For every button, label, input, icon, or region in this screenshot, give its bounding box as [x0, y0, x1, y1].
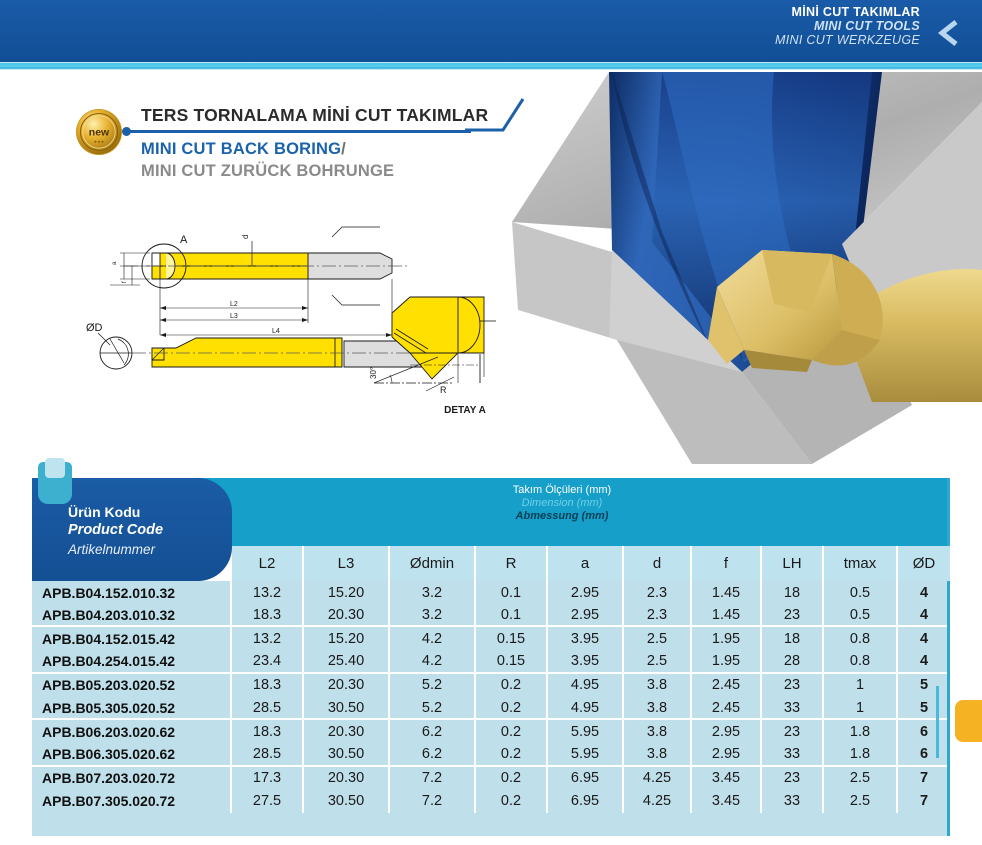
cell-d: 2.5 — [624, 651, 692, 672]
cell-r: 0.2 — [476, 720, 548, 743]
cell-product-code: APB.B07.305.020.72 — [32, 790, 232, 813]
cell-f: 2.45 — [692, 697, 762, 718]
cell-l3: 15.20 — [304, 581, 390, 604]
cell-tmax: 2.5 — [824, 767, 898, 790]
detail-marker-label: A — [180, 234, 188, 246]
cell--d: 5 — [898, 674, 950, 697]
column-header-tmax: tmax — [824, 546, 898, 581]
column-header-l2: L2 — [232, 546, 304, 581]
product-code-header-tr: Ürün Kodu — [68, 504, 140, 520]
cell-product-code: APB.B04.152.010.32 — [32, 581, 232, 604]
cell-l3: 20.30 — [304, 767, 390, 790]
cell-d: 4.25 — [624, 790, 692, 813]
cell-lh: 23 — [762, 720, 824, 743]
cell-l2: 17.3 — [232, 767, 304, 790]
title-rule — [126, 130, 471, 133]
cell-tmax: 0.5 — [824, 604, 898, 625]
product-code-header-de: Artikelnummer — [68, 542, 155, 557]
cell-l2: 28.5 — [232, 743, 304, 764]
dimension-header-tr: Takım Ölçüleri (mm) — [412, 484, 712, 497]
cell--dmin: 3.2 — [390, 581, 476, 604]
cell-f: 3.45 — [692, 767, 762, 790]
cell-tmax: 1.8 — [824, 743, 898, 764]
cell-l3: 30.50 — [304, 697, 390, 718]
cell--d: 5 — [898, 697, 950, 718]
angle-label: 30° — [369, 367, 378, 379]
table-body: APB.B04.152.010.3213.215.203.20.12.952.3… — [32, 581, 950, 836]
cell--d: 4 — [898, 581, 950, 604]
table-row: APB.B07.203.020.7217.320.307.20.26.954.2… — [32, 767, 950, 790]
cell-l2: 18.3 — [232, 674, 304, 697]
table-row: APB.B05.203.020.5218.320.305.20.24.953.8… — [32, 674, 950, 697]
table-row: APB.B07.305.020.7227.530.507.20.26.954.2… — [32, 790, 950, 813]
radius-label: R — [440, 385, 447, 395]
dimension-header-de: Abmessung (mm) — [412, 510, 712, 523]
cell-f: 1.45 — [692, 604, 762, 625]
cell-lh: 23 — [762, 674, 824, 697]
cell-l2: 28.5 — [232, 697, 304, 718]
cell-r: 0.2 — [476, 790, 548, 813]
cell-l2: 23.4 — [232, 651, 304, 672]
cell-a: 6.95 — [548, 790, 624, 813]
page-title-de: MINI CUT ZURÜCK BOHRUNGE — [141, 162, 394, 181]
cell-d: 2.3 — [624, 581, 692, 604]
cell-lh: 18 — [762, 581, 824, 604]
back-boring-tool-3d-render — [512, 72, 982, 464]
cell-f: 1.95 — [692, 627, 762, 650]
cell-tmax: 0.8 — [824, 651, 898, 672]
cell--dmin: 4.2 — [390, 627, 476, 650]
cell-f: 1.45 — [692, 581, 762, 604]
cell-product-code: APB.B05.305.020.52 — [32, 697, 232, 718]
cell-r: 0.15 — [476, 651, 548, 672]
cell-product-code: APB.B04.254.015.42 — [32, 651, 232, 672]
product-code-header-en: Product Code — [68, 522, 163, 538]
cell-r: 0.2 — [476, 743, 548, 764]
cell-tmax: 0.8 — [824, 627, 898, 650]
cell-l3: 30.50 — [304, 790, 390, 813]
cell--dmin: 6.2 — [390, 720, 476, 743]
diameter-label: ØD — [86, 322, 103, 334]
header-title-de: MINI CUT WERKZEUGE — [775, 33, 920, 47]
chevron-left-icon — [936, 20, 960, 46]
cell--dmin: 7.2 — [390, 790, 476, 813]
page-title-en-text: MINI CUT BACK BORING — [141, 140, 341, 158]
table-row: APB.B05.305.020.5228.530.505.20.24.953.8… — [32, 697, 950, 720]
cell-a: 4.95 — [548, 697, 624, 718]
cell-product-code: APB.B06.203.020.62 — [32, 720, 232, 743]
cell-r: 0.1 — [476, 581, 548, 604]
column-header-a: a — [548, 546, 624, 581]
cell-a: 3.95 — [548, 627, 624, 650]
dimension-header-group: Takım Ölçüleri (mm) Dimension (mm) Abmes… — [412, 484, 712, 523]
cell-l3: 20.30 — [304, 720, 390, 743]
cell-l2: 18.3 — [232, 720, 304, 743]
cell-lh: 23 — [762, 767, 824, 790]
detail-view-label: DETAY A — [444, 405, 486, 416]
cell-l2: 18.3 — [232, 604, 304, 625]
cell-tmax: 1 — [824, 674, 898, 697]
cell--d: 7 — [898, 790, 950, 813]
svg-text:★★★: ★★★ — [94, 139, 105, 144]
cell-d: 4.25 — [624, 767, 692, 790]
cell-a: 2.95 — [548, 581, 624, 604]
cell-r: 0.2 — [476, 767, 548, 790]
cell-r: 0.15 — [476, 627, 548, 650]
cell-a: 3.95 — [548, 651, 624, 672]
cell--d: 4 — [898, 627, 950, 650]
cell-l3: 20.30 — [304, 674, 390, 697]
page-header-bar: MİNİ CUT TAKIMLAR MINI CUT TOOLS MINI CU… — [0, 0, 982, 62]
dim-l2-label: L2 — [230, 301, 238, 308]
table-right-edge — [947, 478, 950, 836]
table-row: APB.B04.152.015.4213.215.204.20.153.952.… — [32, 627, 950, 650]
cell-l3: 25.40 — [304, 651, 390, 672]
cell-product-code: APB.B06.305.020.62 — [32, 743, 232, 764]
product-code-header-block: Ürün Kodu Product Code Artikelnummer — [32, 478, 232, 581]
cell-tmax: 1 — [824, 697, 898, 718]
cell--d: 4 — [898, 604, 950, 625]
cell--dmin: 7.2 — [390, 767, 476, 790]
svg-text:new: new — [89, 126, 110, 138]
cell-f: 2.45 — [692, 674, 762, 697]
column-header-r: R — [476, 546, 548, 581]
page-title-tr: TERS TORNALAMA MİNİ CUT TAKIMLAR — [141, 105, 488, 126]
cell-lh: 33 — [762, 743, 824, 764]
cell-l3: 20.30 — [304, 604, 390, 625]
cell-d: 3.8 — [624, 720, 692, 743]
column-header-f: f — [692, 546, 762, 581]
cell--d: 6 — [898, 720, 950, 743]
column-header-d: d — [624, 546, 692, 581]
page-title-slash: / — [341, 140, 346, 158]
column-header--d: ØD — [898, 546, 950, 581]
table-row: APB.B04.203.010.3218.320.303.20.12.952.3… — [32, 604, 950, 627]
cell-tmax: 0.5 — [824, 581, 898, 604]
page-title-en: MINI CUT BACK BORING/ — [141, 140, 346, 159]
cell-f: 3.45 — [692, 790, 762, 813]
column-header-lh: LH — [762, 546, 824, 581]
table-corner-tab-icon — [38, 462, 72, 504]
cell-a: 4.95 — [548, 674, 624, 697]
cell--dmin: 6.2 — [390, 743, 476, 764]
cell-r: 0.1 — [476, 604, 548, 625]
cell-r: 0.2 — [476, 674, 548, 697]
table-row: APB.B06.305.020.6228.530.506.20.25.953.8… — [32, 743, 950, 766]
table-column-headers: L2L3ØdminRadfLHtmaxØD — [232, 546, 950, 581]
cell-l2: 27.5 — [232, 790, 304, 813]
cell-product-code: APB.B07.203.020.72 — [32, 767, 232, 790]
cell-d: 3.8 — [624, 697, 692, 718]
cell-product-code: APB.B04.203.010.32 — [32, 604, 232, 625]
table-row: APB.B04.152.010.3213.215.203.20.12.952.3… — [32, 581, 950, 604]
cell-l3: 30.50 — [304, 743, 390, 764]
cell-lh: 33 — [762, 697, 824, 718]
side-tab-rule — [936, 686, 939, 758]
cell--d: 7 — [898, 767, 950, 790]
cell--dmin: 4.2 — [390, 651, 476, 672]
cell-d: 2.3 — [624, 604, 692, 625]
cell-f: 2.95 — [692, 720, 762, 743]
cell--dmin: 5.2 — [390, 697, 476, 718]
cell--d: 4 — [898, 651, 950, 672]
cell-tmax: 1.8 — [824, 720, 898, 743]
cell-lh: 18 — [762, 627, 824, 650]
header-accent-rule — [0, 62, 982, 70]
table-row: APB.B06.203.020.6218.320.306.20.25.953.8… — [32, 720, 950, 743]
cell-product-code: APB.B04.152.015.42 — [32, 627, 232, 650]
cell-product-code: APB.B05.203.020.52 — [32, 674, 232, 697]
cell-lh: 28 — [762, 651, 824, 672]
dim-l3-label: L3 — [230, 313, 238, 320]
header-title-tr: MİNİ CUT TAKIMLAR — [775, 5, 920, 19]
cell-a: 6.95 — [548, 767, 624, 790]
cell--dmin: 3.2 — [390, 604, 476, 625]
dim-d-label: d — [241, 235, 250, 239]
dim-l4-label: L4 — [272, 328, 280, 335]
table-row: APB.B04.254.015.4223.425.404.20.153.952.… — [32, 651, 950, 674]
cell--d: 6 — [898, 743, 950, 764]
dimension-header-en: Dimension (mm) — [412, 497, 712, 510]
cell-d: 3.8 — [624, 674, 692, 697]
cell-d: 2.5 — [624, 627, 692, 650]
column-header-l3: L3 — [304, 546, 390, 581]
cell-a: 5.95 — [548, 720, 624, 743]
header-title-en: MINI CUT TOOLS — [775, 19, 920, 33]
new-badge-icon: new ★★★ — [74, 107, 124, 157]
product-specs-table: Takım Ölçüleri (mm) Dimension (mm) Abmes… — [32, 478, 950, 836]
cell-l2: 13.2 — [232, 627, 304, 650]
cell-l3: 15.20 — [304, 627, 390, 650]
cell-a: 2.95 — [548, 604, 624, 625]
page-side-tab[interactable] — [955, 700, 982, 742]
column-header--dmin: Ødmin — [390, 546, 476, 581]
cell-f: 1.95 — [692, 651, 762, 672]
technical-drawings: A d a f L2 L3 L4 — [80, 205, 520, 420]
cell-lh: 33 — [762, 790, 824, 813]
dim-a-label: a — [112, 261, 118, 265]
dim-f-label: f — [122, 281, 128, 283]
cell-l2: 13.2 — [232, 581, 304, 604]
cell-a: 5.95 — [548, 743, 624, 764]
cell-lh: 23 — [762, 604, 824, 625]
cell-d: 3.8 — [624, 743, 692, 764]
cell-tmax: 2.5 — [824, 790, 898, 813]
cell-r: 0.2 — [476, 697, 548, 718]
header-titles: MİNİ CUT TAKIMLAR MINI CUT TOOLS MINI CU… — [775, 5, 920, 47]
cell-f: 2.95 — [692, 743, 762, 764]
cell--dmin: 5.2 — [390, 674, 476, 697]
